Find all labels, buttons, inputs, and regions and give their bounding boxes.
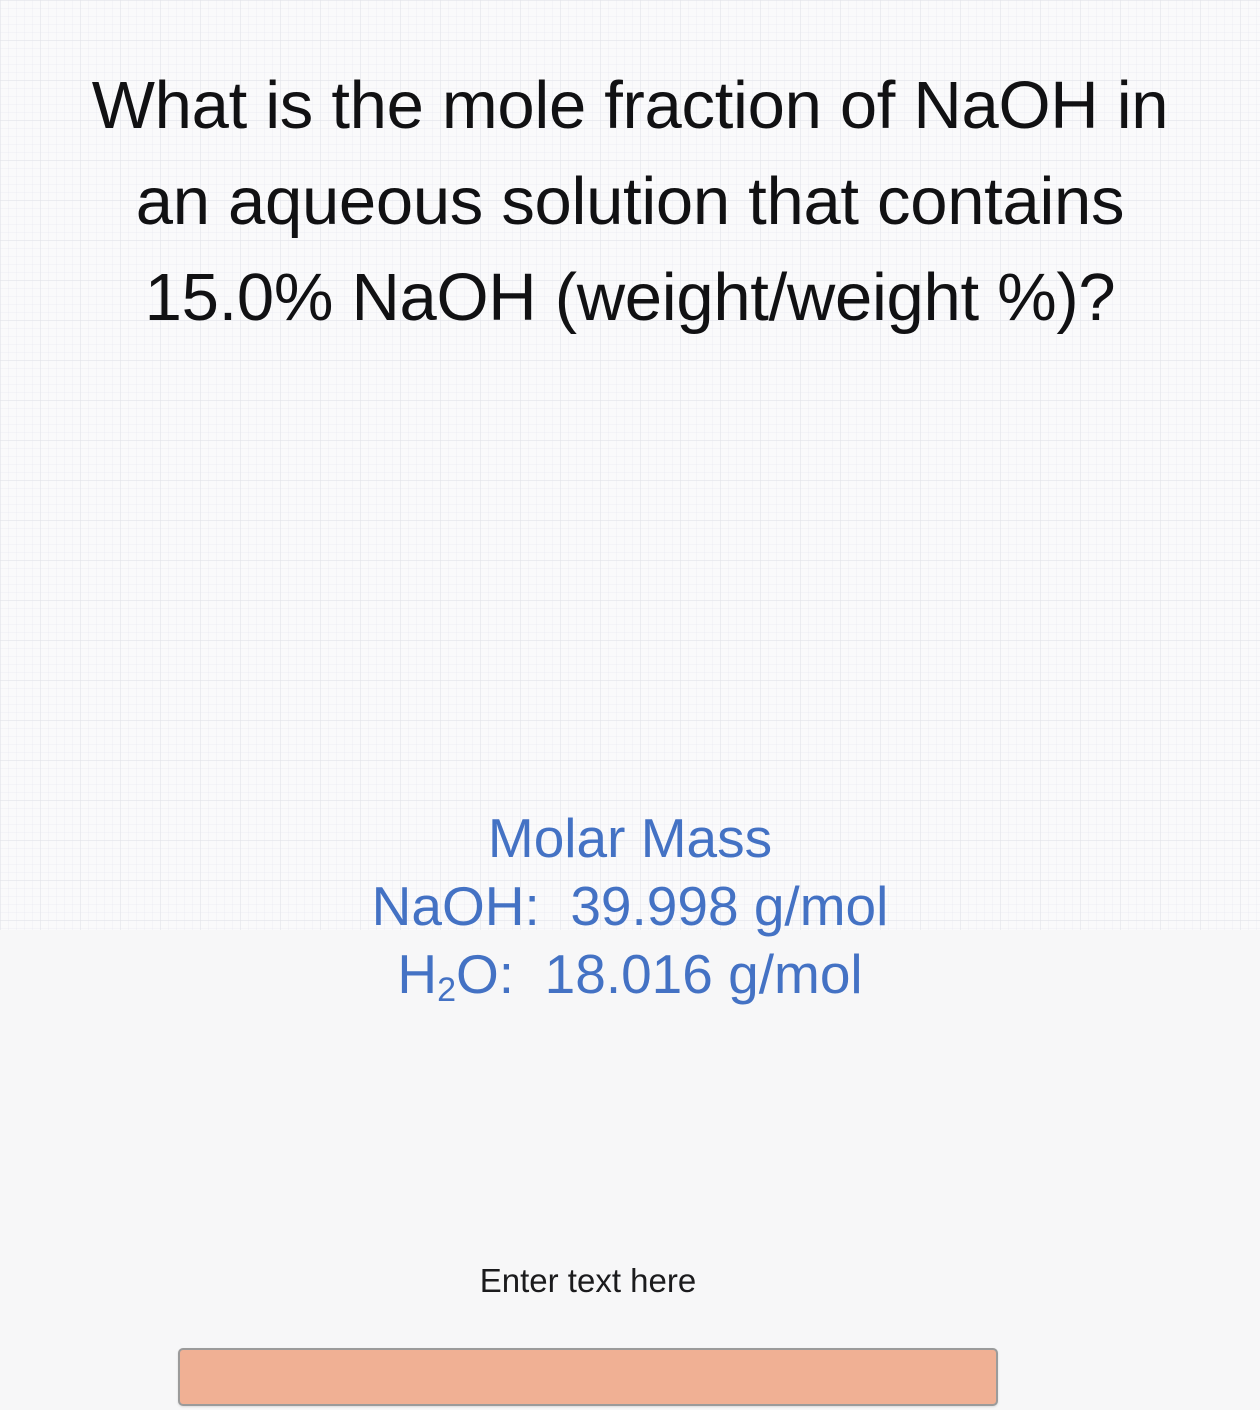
molar-mass-naoh-value: 39.998 <box>570 875 738 937</box>
question-line-3: 15.0% NaOH (weight/weight %)? <box>0 250 1260 346</box>
molar-mass-water-unit: g/mol <box>728 943 863 1005</box>
answer-input[interactable] <box>178 1348 998 1406</box>
molar-mass-heading: Molar Mass <box>0 804 1260 872</box>
molar-mass-water-subscript: 2 <box>437 971 456 1009</box>
molar-mass-naoh-formula: NaOH: <box>372 875 540 937</box>
molar-mass-water: H2O: 18.016 g/mol <box>0 940 1260 1016</box>
quiz-page: What is the mole fraction of NaOH in an … <box>0 0 1260 930</box>
question-line-2: an aqueous solution that contains <box>0 154 1260 250</box>
molar-mass-water-element: H <box>397 943 437 1005</box>
question-prompt: What is the mole fraction of NaOH in an … <box>0 58 1260 346</box>
molar-mass-water-suffix: O: <box>456 943 514 1005</box>
molar-mass-reference: Molar Mass NaOH: 39.998 g/mol H2O: 18.01… <box>0 804 1260 1016</box>
molar-mass-naoh-unit: g/mol <box>754 875 889 937</box>
answer-input-label: Enter text here <box>178 1261 998 1301</box>
molar-mass-water-value: 18.016 <box>545 943 713 1005</box>
question-line-1: What is the mole fraction of NaOH in <box>0 58 1260 154</box>
